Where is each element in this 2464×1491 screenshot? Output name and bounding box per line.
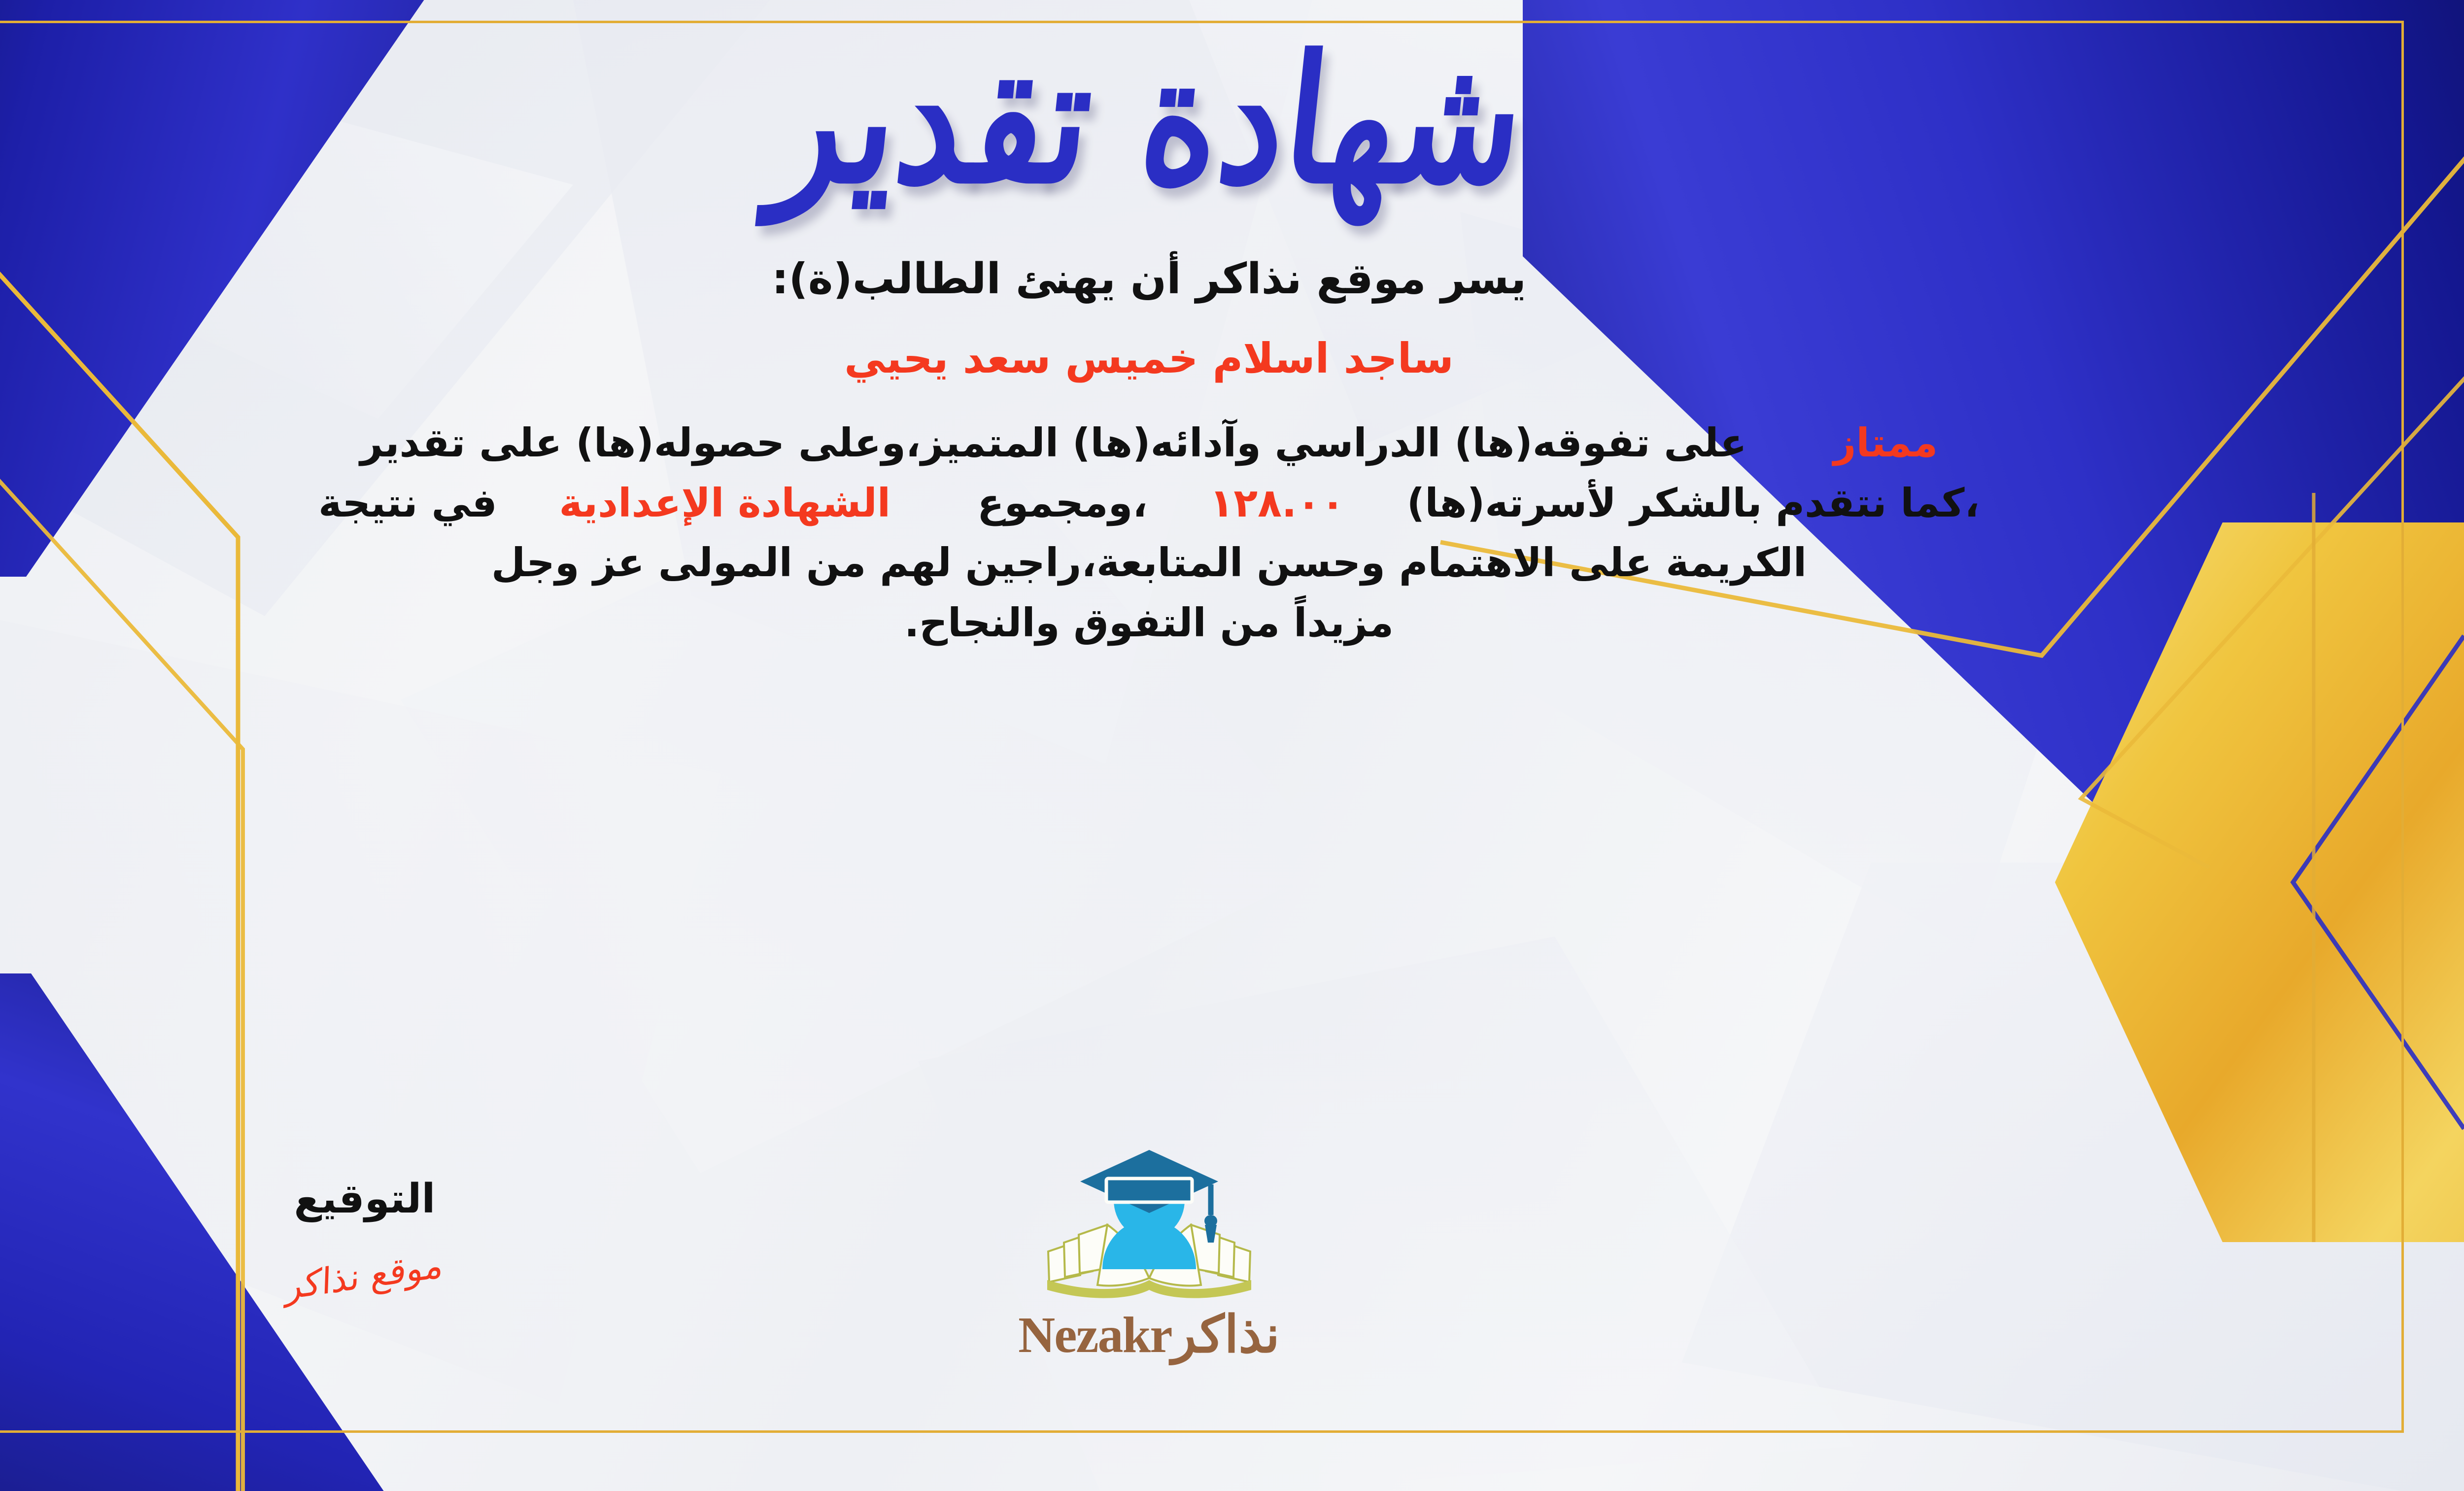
body-line-2-tail: ،كما نتقدم بالشكر لأسرته(ها) [1407, 480, 1980, 526]
logo-wordmark: نذاكرNezakr [962, 1304, 1336, 1364]
signature-block: التوقيع موقع نذاكر [177, 1176, 552, 1296]
body-line-3: الكريمة على الاهتمام وحسن المتابعة،راجين… [26, 533, 2273, 593]
certificate-footer: التوقيع موقع نذاكر [0, 1087, 2375, 1442]
body-line-4: مزيداً من التفوق والنجاح. [26, 593, 2273, 653]
exam-name: الشهادة الإعدادية [559, 480, 890, 526]
student-name: ساجد اسلام خميس سعد يحيي [844, 334, 1454, 382]
logo-arabic: نذاكر [1172, 1304, 1280, 1364]
certificate-content: شهادة تقدير يسر موقع نذاكر أن يهنئ الطال… [0, 30, 2375, 1422]
body-line-2-head: في نتيجة [318, 480, 497, 526]
certificate-title: شهادة تقدير [766, 31, 1533, 208]
certificate-canvas: شهادة تقدير يسر موقع نذاكر أن يهنئ الطال… [0, 0, 2464, 1491]
body-line-1-text: على تفوقه(ها) الدراسي وآدائه(ها) المتميز… [360, 420, 1747, 466]
signature-handwritten: موقع نذاكر [285, 1244, 444, 1308]
graduation-cap-open-book-icon [1033, 1146, 1265, 1309]
signature-label: التوقيع [177, 1176, 552, 1222]
total-score: ١٢٨.٠٠ [1209, 480, 1345, 526]
site-logo: نذاكرNezakr [962, 1146, 1336, 1364]
greeting-line: يسر موقع نذاكر أن يهنئ الطالب(ة): [772, 254, 1526, 304]
body-line-2-mid: ،ومجموع [977, 480, 1148, 526]
body-line-1: ممتاز على تفوقه(ها) الدراسي وآدائه(ها) ا… [26, 413, 2273, 473]
body-line-2: ،كما نتقدم بالشكر لأسرته(ها) ١٢٨.٠٠ ،ومج… [26, 473, 2273, 533]
grade-value: ممتاز [1833, 420, 1938, 466]
logo-latin: Nezakr [1018, 1307, 1171, 1363]
body-paragraph: ممتاز على تفوقه(ها) الدراسي وآدائه(ها) ا… [26, 413, 2273, 653]
